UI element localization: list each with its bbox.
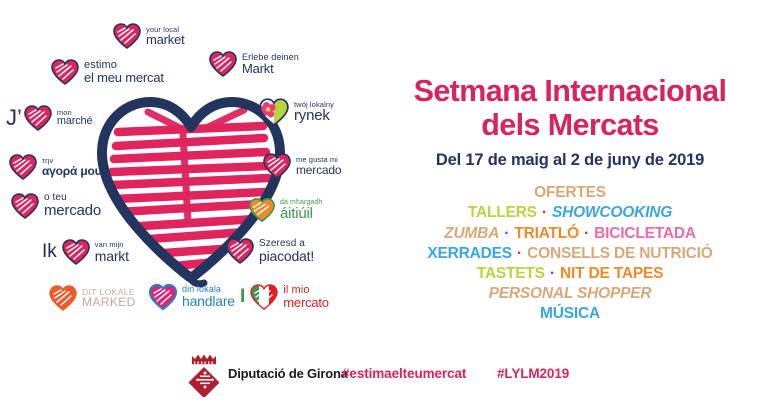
lang-label-ca: estimo el meu mercat [50,58,164,86]
heart-icon-blue [148,283,178,311]
lang-big-hu: piacodat! [259,249,314,263]
activity-line: OFERTES [372,183,768,203]
activity-item: SHOWCOOKING [552,204,672,221]
activity-item: TASTETS [477,265,545,282]
activity-item: NIT DE TAPES [560,265,663,282]
lang-label-de: Erlebe deinen Markt [208,50,299,78]
footer-bar: Diputació de Girona #estimaelteumercat #… [0,345,768,412]
lang-label-sv: din lokala handlare [148,283,235,311]
lang-big-pl: rynek [294,108,334,123]
lang-big-ga: áitiúil [280,206,322,221]
activity-separator: · [579,225,594,242]
heart-collage: your local market estimo el meu mercat [0,0,372,345]
hashtag-estimaelteumercat[interactable]: #estimaelteumercat [342,366,466,381]
activity-line: XERRADES · CONSELLS DE NUTRICIÓ [372,244,768,264]
lang-big-es: mercado [296,164,341,176]
heart-icon-pink [10,192,40,220]
activity-item: XERRADES [427,245,512,262]
activity-item: PERSONAL SHOPPER [489,285,652,302]
activity-line: MÚSICA [372,304,768,324]
activity-item: CONSELLS DE NUTRICIÓ [527,245,712,262]
lang-prefix-it: I [240,286,245,308]
lang-label-nl: Ik van mijn markt [42,238,129,266]
lang-big-gl: mercado [44,203,101,218]
heart-icon-flower [258,97,290,127]
poster-canvas: your local market estimo el meu mercat [0,0,768,412]
heart-icon-pink [50,58,80,86]
org-name: Diputació de Girona [228,366,348,381]
title-line-2: dels Mercats [372,108,768,142]
heart-icon-orange-green [248,197,276,223]
lang-big-sv: handlare [182,294,235,308]
heart-icon-pink [112,22,142,50]
lang-big-fr: marché [57,116,92,127]
lang-label-fr: J’ mon marché [6,104,92,132]
activity-item: TALLERS [468,204,537,221]
lang-label-en: your local market [112,22,185,50]
lang-big-it: mercato [283,296,329,309]
lang-big-en: market [146,33,185,46]
title-line-1: Setmana Internacional [372,74,768,108]
activity-item: BICICLETADA [594,225,696,242]
event-info-block: Setmana Internacional dels Mercats Del 1… [372,0,768,345]
lang-label-hu: Szeresd a piacodat! [225,237,314,265]
lang-big-ca: el meu mercat [84,71,164,84]
heart-icon-orange [48,284,78,312]
activity-item: ZUMBA [444,225,499,242]
heart-icon-italy [249,283,279,311]
activity-line: ZUMBA · TRIATLÓ · BICICLETADA [372,224,768,244]
heart-icon-pink [8,153,38,181]
event-dates: Del 17 de maig al 2 de juny de 2019 [372,151,768,170]
heart-icon-pink [23,104,53,132]
lang-label-es: me gusta mi mercado [262,152,341,180]
activity-line: TASTETS · NIT DE TAPES [372,264,768,284]
activity-line: PERSONAL SHOPPER [372,284,768,304]
activities-list: OFERTESTALLERS · SHOWCOOKINGZUMBA · TRIA… [372,183,768,324]
lang-label-da: DIT LOKALE MARKED [48,284,136,312]
lang-big-de: Markt [242,62,299,75]
activity-separator: · [512,245,527,262]
lang-big-el: αγορά μου [42,165,101,177]
lang-prefix-nl: Ik [42,241,57,263]
activity-line: TALLERS · SHOWCOOKING [372,203,768,223]
hashtag-lylm2019[interactable]: #LYLM2019 [497,366,569,381]
diputacio-de-girona-crest [183,351,227,397]
lang-big-nl: markt [95,249,129,263]
activity-item: TRIATLÓ [514,225,579,242]
lang-label-pl: twój lokalny rynek [258,97,334,127]
activity-separator: · [499,225,514,242]
heart-icon-pink [225,237,255,265]
activity-item: OFERTES [534,184,606,201]
activity-separator: · [545,265,560,282]
lang-big-da: MARKED [82,296,136,308]
lang-prefix-fr: J’ [6,105,22,131]
lang-label-ga: dá mhargadh áitiúil [248,197,322,223]
page-title: Setmana Internacional dels Mercats [372,74,768,142]
lang-label-gl: o teu mercado [10,192,101,220]
heart-icon-pink [208,50,238,78]
heart-icon-pink [262,152,292,180]
activity-separator: · [537,204,552,221]
lang-label-it: I il mio mercato [240,283,329,311]
heart-icon-pink [61,238,91,266]
activity-item: MÚSICA [540,305,600,322]
lang-label-el: την αγορά μου [8,153,101,181]
